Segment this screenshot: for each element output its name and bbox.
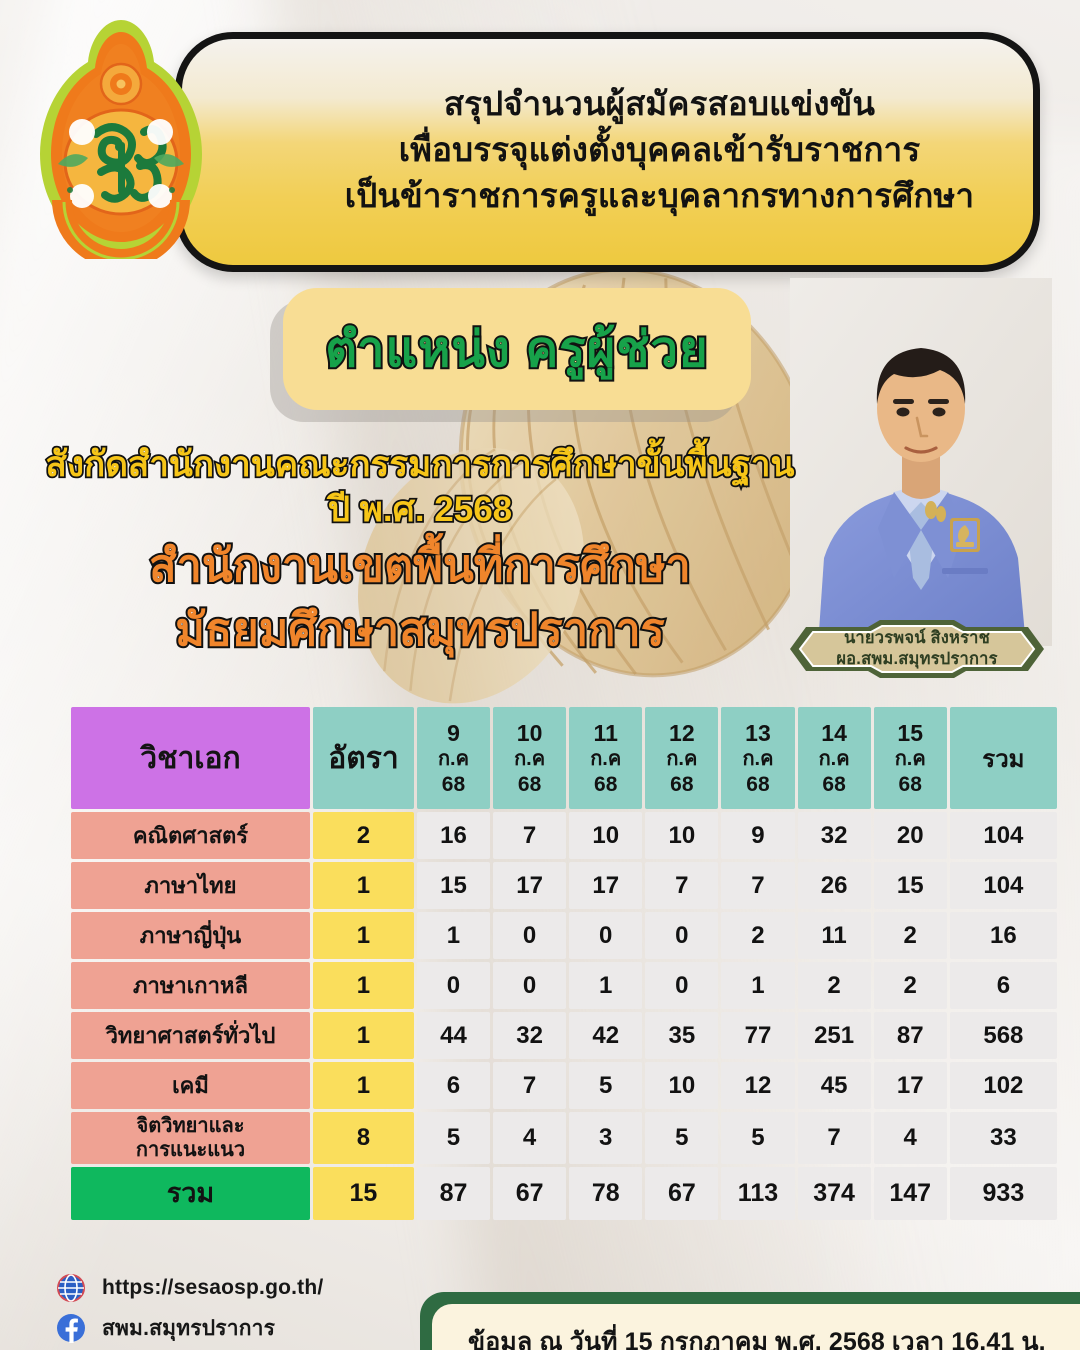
cell-total-value-15: 147 [874,1167,947,1220]
cell-subject: ภาษาเกาหลี [71,962,310,1009]
column-header-total: รวม [950,707,1057,809]
cell-value-10: 4 [493,1112,566,1164]
cell-value-11: 17 [569,862,642,909]
cell-total-value-11: 78 [569,1167,642,1220]
cell-value-15: 4 [874,1112,947,1164]
cell-value-15: 2 [874,912,947,959]
cell-value-15: 20 [874,812,947,859]
cell-row-total: 16 [950,912,1057,959]
cell-value-9: 16 [417,812,490,859]
cell-value-10: 7 [493,1062,566,1109]
header-title-line-2: เพื่อบรรจุแต่งตั้งบุคคลเข้ารับราชการ [399,128,921,172]
footer-links: https://sesaosp.go.th/ สพม.สมุทรปราการ [56,1268,323,1348]
cell-value-15: 17 [874,1062,947,1109]
affiliation-text: สังกัดสำนักงานคณะกรรมการการศึกษาขั้นพื้น… [0,445,840,484]
cell-value-14: 45 [798,1062,871,1109]
cell-value-10: 0 [493,912,566,959]
header-title-line-1: สรุปจำนวนผู้สมัครสอบแข่งขัน [444,82,875,126]
cell-value-15: 15 [874,862,947,909]
cell-value-9: 6 [417,1062,490,1109]
cell-rate: 1 [313,962,414,1009]
cell-value-13: 1 [721,962,794,1009]
header-banner: สรุปจำนวนผู้สมัครสอบแข่งขัน เพื่อบรรจุแต… [175,32,1040,272]
column-header-date-10: 10 ก.ค 68 [493,707,566,809]
cell-value-12: 0 [645,912,718,959]
header-title-line-3: เป็นข้าราชการครูและบุคลากรทางการศึกษา [345,174,975,218]
footer: https://sesaosp.go.th/ สพม.สมุทรปราการ ข… [0,1264,1080,1350]
table-header-row: วิชาเอก อัตรา 9 ก.ค 68 10 ก.ค 68 11 ก. [71,707,1057,809]
cell-rate: 1 [313,862,414,909]
cell-total-value-12: 67 [645,1167,718,1220]
cell-row-total: 102 [950,1062,1057,1109]
office-line-1: สำนักงานเขตพื้นที่การศึกษา [0,539,840,593]
director-name: นายวรพจน์ สิงหราช [844,629,990,648]
cell-total-value-10: 67 [493,1167,566,1220]
cell-total-label: รวม [71,1167,310,1220]
cell-value-14: 251 [798,1012,871,1059]
table-row: คณิตศาสตร์2167101093220104 [71,812,1057,859]
cell-value-12: 0 [645,962,718,1009]
column-header-date-13: 13 ก.ค 68 [721,707,794,809]
cell-total-value-13: 113 [721,1167,794,1220]
cell-total-value-9: 87 [417,1167,490,1220]
cell-total-rate: 15 [313,1167,414,1220]
table-body: คณิตศาสตร์2167101093220104ภาษาไทย1151717… [71,812,1057,1220]
facebook-icon [56,1313,86,1343]
footer-facebook-text: สพม.สมุทรปราการ [102,1312,275,1345]
cell-subject: ภาษาไทย [71,862,310,909]
cell-value-14: 7 [798,1112,871,1164]
cell-value-10: 0 [493,962,566,1009]
cell-subject: จิตวิทยาและการแนะแนว [71,1112,310,1164]
cell-value-9: 5 [417,1112,490,1164]
cell-value-11: 5 [569,1062,642,1109]
cell-subject: เคมี [71,1062,310,1109]
cell-value-10: 7 [493,812,566,859]
cell-row-total: 33 [950,1112,1057,1164]
column-header-date-15: 15 ก.ค 68 [874,707,947,809]
cell-row-total: 104 [950,862,1057,909]
cell-value-11: 1 [569,962,642,1009]
cell-value-9: 44 [417,1012,490,1059]
position-badge: ตำแหน่ง ครูผู้ช่วย [283,288,751,410]
footer-date-banner: ข้อมูล ณ วันที่ 15 กรกฎาคม พ.ศ. 2568 เวล… [420,1292,1080,1350]
cell-value-13: 5 [721,1112,794,1164]
cell-rate: 2 [313,812,414,859]
cell-total-value-14: 374 [798,1167,871,1220]
column-header-date-12: 12 ก.ค 68 [645,707,718,809]
year-text: ปี พ.ศ. 2568 [0,490,840,529]
cell-value-12: 10 [645,812,718,859]
cell-value-13: 7 [721,862,794,909]
infographic-page: สรุปจำนวนผู้สมัครสอบแข่งขัน เพื่อบรรจุแต… [0,0,1080,1350]
cell-subject: ภาษาญี่ปุ่น [71,912,310,959]
cell-value-10: 17 [493,862,566,909]
footer-facebook-row[interactable]: สพม.สมุทรปราการ [56,1308,323,1348]
cell-value-12: 7 [645,862,718,909]
cell-subject: คณิตศาสตร์ [71,812,310,859]
director-name-plaque: นายวรพจน์ สิงหราช ผอ.สพม.สมุทรปราการ [776,618,1058,680]
cell-rate: 1 [313,912,414,959]
cell-value-13: 9 [721,812,794,859]
column-header-subject: วิชาเอก [71,707,310,809]
cell-value-13: 12 [721,1062,794,1109]
applicants-table-wrapper: วิชาเอก อัตรา 9 ก.ค 68 10 ก.ค 68 11 ก. [68,704,1060,1223]
cell-value-12: 5 [645,1112,718,1164]
column-header-rate: อัตรา [313,707,414,809]
cell-row-total: 104 [950,812,1057,859]
cell-value-15: 87 [874,1012,947,1059]
cell-value-12: 35 [645,1012,718,1059]
cell-row-total: 568 [950,1012,1057,1059]
cell-value-14: 11 [798,912,871,959]
applicants-table: วิชาเอก อัตรา 9 ก.ค 68 10 ก.ค 68 11 ก. [68,704,1060,1223]
office-line-2: มัธยมศึกษาสมุทรปราการ [0,603,840,657]
cell-value-10: 32 [493,1012,566,1059]
cell-value-12: 10 [645,1062,718,1109]
footer-date-text: ข้อมูล ณ วันที่ 15 กรกฎาคม พ.ศ. 2568 เวล… [468,1322,1046,1350]
cell-value-15: 2 [874,962,947,1009]
table-row: วิทยาศาสตร์ทั่วไป1443242357725187568 [71,1012,1057,1059]
cell-value-14: 2 [798,962,871,1009]
table-row: ภาษาเกาหลี100101226 [71,962,1057,1009]
table-row: ภาษาญี่ปุ่น11000211216 [71,912,1057,959]
cell-value-13: 2 [721,912,794,959]
cell-value-9: 1 [417,912,490,959]
obec-emblem-icon [34,14,209,259]
cell-value-14: 32 [798,812,871,859]
director-role: ผอ.สพม.สมุทรปราการ [836,650,997,669]
subtitle-block: สังกัดสำนักงานคณะกรรมการการศึกษาขั้นพื้น… [0,445,840,657]
cell-value-11: 0 [569,912,642,959]
footer-website-row[interactable]: https://sesaosp.go.th/ [56,1268,323,1308]
cell-value-9: 0 [417,962,490,1009]
cell-value-13: 77 [721,1012,794,1059]
position-label: ตำแหน่ง ครูผู้ช่วย [325,310,709,388]
table-row: ภาษาไทย1151717772615104 [71,862,1057,909]
table-total-row: รวม1587677867113374147933 [71,1167,1057,1220]
cell-value-11: 3 [569,1112,642,1164]
table-row: จิตวิทยาและการแนะแนว8543557433 [71,1112,1057,1164]
globe-icon [56,1273,86,1303]
cell-row-total: 6 [950,962,1057,1009]
cell-rate: 1 [313,1012,414,1059]
footer-website-text: https://sesaosp.go.th/ [102,1276,323,1300]
table-row: เคมี167510124517102 [71,1062,1057,1109]
cell-grand-total: 933 [950,1167,1057,1220]
column-header-date-14: 14 ก.ค 68 [798,707,871,809]
footer-date-inner: ข้อมูล ณ วันที่ 15 กรกฎาคม พ.ศ. 2568 เวล… [432,1304,1080,1350]
cell-rate: 1 [313,1062,414,1109]
column-header-date-9: 9 ก.ค 68 [417,707,490,809]
cell-value-9: 15 [417,862,490,909]
cell-value-11: 10 [569,812,642,859]
cell-value-11: 42 [569,1012,642,1059]
cell-subject: วิทยาศาสตร์ทั่วไป [71,1012,310,1059]
cell-rate: 8 [313,1112,414,1164]
cell-value-14: 26 [798,862,871,909]
column-header-date-11: 11 ก.ค 68 [569,707,642,809]
